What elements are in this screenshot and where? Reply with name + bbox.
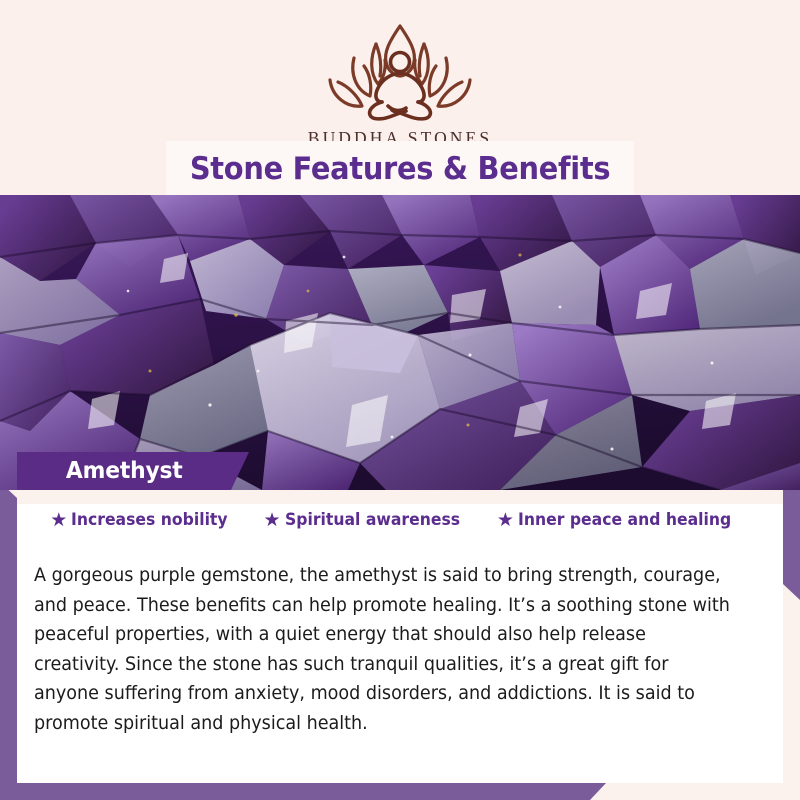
benefits-list: ★ Increases nobility ★ Spiritual awarene… — [17, 510, 783, 530]
benefit-item: ★ Spiritual awareness — [264, 510, 475, 530]
benefit-label: Spiritual awareness — [285, 510, 460, 530]
star-icon: ★ — [497, 511, 514, 530]
brand-logo: BUDDHA STONES — [0, 18, 800, 149]
stone-name-label: Amethyst — [21, 458, 182, 484]
stone-name-ribbon: Amethyst — [17, 452, 249, 490]
star-icon: ★ — [50, 511, 67, 530]
frame-band-bottom — [0, 783, 800, 800]
content-top-tint — [17, 490, 783, 504]
crystal-photo-art — [0, 195, 800, 490]
product-infographic-poster: BUDDHA STONES Stone Features & Benefits — [0, 0, 800, 800]
description-section: ★ Increases nobility ★ Spiritual awarene… — [17, 490, 783, 783]
benefit-label: Increases nobility — [71, 510, 228, 530]
star-icon: ★ — [264, 511, 281, 530]
page-title: Stone Features & Benefits — [190, 151, 610, 187]
lotus-meditation-icon — [300, 18, 500, 126]
benefit-item: ★ Increases nobility — [50, 510, 241, 530]
benefit-label: Inner peace and healing — [518, 510, 731, 530]
benefit-item: ★ Inner peace and healing — [497, 510, 750, 530]
stone-description-text: A gorgeous purple gemstone, the amethyst… — [34, 561, 734, 738]
frame-band-left — [0, 482, 17, 800]
amethyst-crystal-cluster-photo — [0, 195, 800, 490]
page-title-banner: Stone Features & Benefits — [166, 141, 634, 196]
poster-header: BUDDHA STONES Stone Features & Benefits — [0, 0, 800, 196]
